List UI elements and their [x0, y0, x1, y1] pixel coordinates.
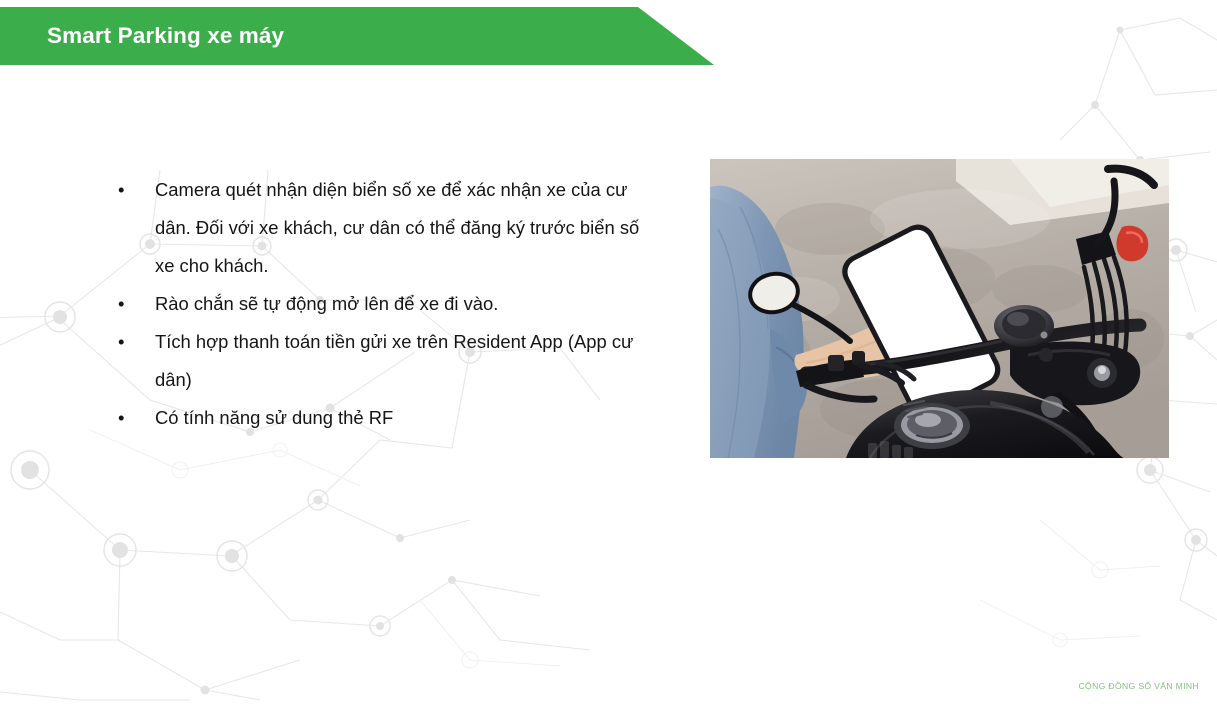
footer-tagline: CỘNG ĐỒNG SỐ VĂN MINH	[1078, 681, 1199, 691]
page-title: Smart Parking xe máy	[47, 7, 284, 65]
list-item-text: Tích hợp thanh toán tiền gửi xe trên Res…	[155, 323, 658, 399]
list-item: • Tích hợp thanh toán tiền gửi xe trên R…	[118, 323, 658, 399]
slide-canvas: Smart Parking xe máy • Camera quét nhận …	[0, 0, 1217, 709]
bullet-point-icon: •	[118, 399, 155, 437]
list-item: • Camera quét nhận diện biển số xe để xá…	[118, 171, 658, 285]
list-item: • Có tính năng sử dung thẻ RF	[118, 399, 658, 437]
list-item-text: Camera quét nhận diện biển số xe để xác …	[155, 171, 658, 285]
title-banner: Smart Parking xe máy	[0, 7, 720, 65]
bullet-point-icon: •	[118, 323, 155, 361]
list-item: • Rào chắn sẽ tự động mở lên để xe đi và…	[118, 285, 658, 323]
motorcycle-phone-photo	[710, 159, 1169, 458]
list-item-text: Rào chắn sẽ tự động mở lên để xe đi vào.	[155, 285, 658, 323]
list-item-text: Có tính năng sử dung thẻ RF	[155, 399, 658, 437]
bullet-point-icon: •	[118, 171, 155, 209]
bullet-list: • Camera quét nhận diện biển số xe để xá…	[118, 171, 658, 437]
bullet-point-icon: •	[118, 285, 155, 323]
